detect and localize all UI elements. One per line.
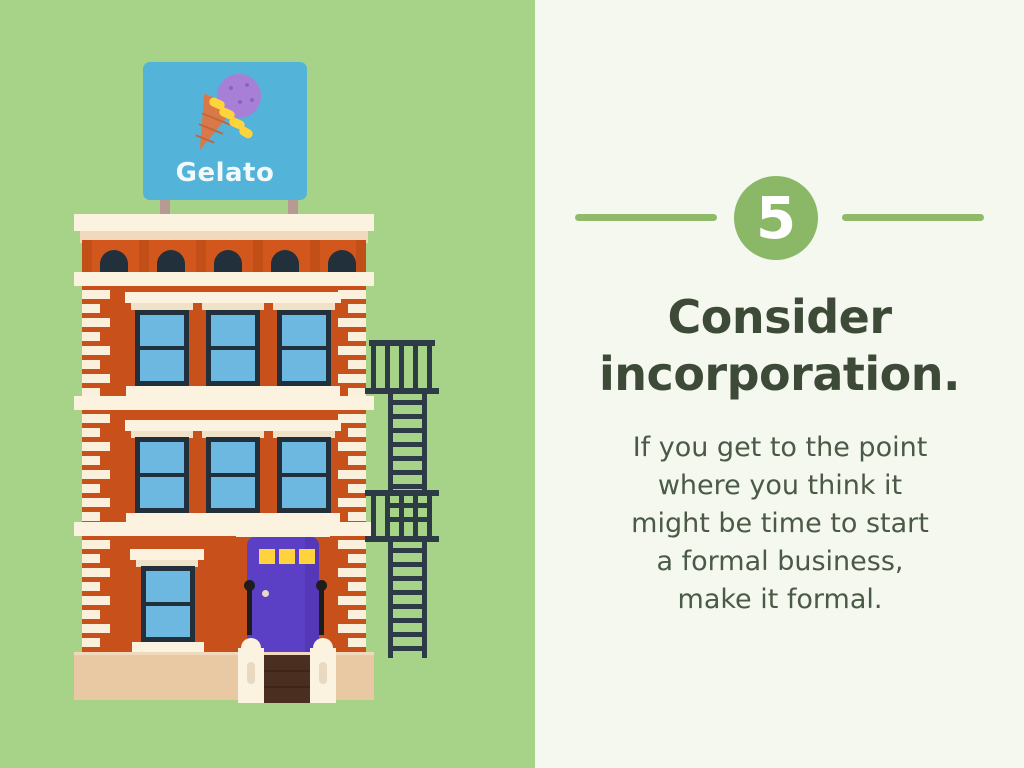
quoin [82, 484, 100, 493]
lamp-base-inset [319, 662, 327, 684]
content-panel: 5 Consider incorporation. If you get to … [535, 0, 1024, 768]
quoin [82, 318, 110, 327]
fire-escape-baluster [371, 490, 376, 536]
window-pane [140, 350, 184, 381]
fire-escape-baluster [427, 490, 432, 536]
fire-escape-rail [388, 542, 393, 658]
quoin [82, 346, 110, 355]
page-title: Consider incorporation. [555, 289, 1004, 403]
quoin [82, 456, 100, 465]
body-line: where you think it [580, 467, 980, 505]
fire-escape-rung [388, 414, 427, 419]
quoin [82, 582, 100, 591]
quoin [338, 596, 366, 605]
scoop-dot [229, 86, 233, 90]
window-pane [140, 442, 184, 473]
attic-pier [82, 240, 92, 272]
window-pane [211, 442, 255, 473]
quoin [82, 442, 110, 451]
window-upper-2 [206, 310, 260, 386]
quoin [338, 346, 366, 355]
quoin [348, 484, 366, 493]
window-lintel [125, 420, 199, 431]
quoin [82, 610, 100, 619]
fire-escape-rung [388, 562, 427, 567]
step-edge [255, 686, 317, 688]
heading-line: incorporation. [599, 347, 960, 401]
window-pane [282, 477, 326, 508]
window-middle-1 [135, 437, 189, 513]
fire-escape-rung [388, 576, 427, 581]
floor-band-middle [74, 396, 374, 410]
drizzle-blob [238, 125, 255, 140]
quoin [348, 512, 366, 521]
window-pane [211, 477, 255, 508]
fire-escape-rung [388, 618, 427, 623]
door-transom-pane [279, 549, 295, 564]
quoin [348, 554, 366, 563]
fire-escape-rung [388, 590, 427, 595]
fire-escape-rung [388, 646, 427, 651]
quoin [338, 442, 366, 451]
window-lintel [267, 420, 341, 431]
window-pane [140, 477, 184, 508]
body-paragraph: If you get to the point where you think … [580, 429, 980, 619]
divider-line-left [575, 214, 717, 221]
lamp-head-right [316, 580, 327, 591]
attic-pier [356, 240, 366, 272]
quoin [82, 428, 100, 437]
quoin [338, 470, 366, 479]
door-header-upper [228, 515, 338, 525]
quoin [82, 596, 110, 605]
quoin [82, 540, 110, 549]
fire-escape-rung [388, 428, 427, 433]
door-header-lower [236, 527, 330, 537]
window-lintel-under [131, 303, 193, 310]
fire-escape-baluster [413, 490, 418, 536]
door-transom-pane [299, 549, 315, 564]
door-knob[interactable] [262, 590, 269, 597]
window-lintel [267, 292, 341, 303]
quoin [82, 624, 110, 633]
quoin [82, 332, 100, 341]
lamp-head-left [244, 580, 255, 591]
gelato-building-illustration: Gelato [0, 0, 535, 768]
quoin [82, 374, 110, 383]
quoin [348, 332, 366, 341]
fire-escape-baluster [399, 490, 404, 536]
attic-pier [310, 240, 320, 272]
fire-escape [365, 340, 445, 660]
window-upper-1 [135, 310, 189, 386]
quoin [82, 304, 100, 313]
fire-escape-rung [388, 632, 427, 637]
window-pane [140, 315, 184, 346]
quoin [82, 568, 110, 577]
quoin [82, 554, 100, 563]
quoin [82, 360, 100, 369]
heading-line: Consider [667, 290, 891, 344]
quoin [82, 290, 110, 299]
window-ground-1 [141, 566, 195, 642]
attic-pier [139, 240, 149, 272]
floor-band-top [74, 272, 374, 286]
fire-escape-baluster [385, 340, 390, 388]
roof-cap [74, 214, 374, 231]
quoin [348, 456, 366, 465]
lamp-pole-right [319, 587, 324, 635]
fire-escape-rung [388, 548, 427, 553]
body-line: might be time to start [580, 505, 980, 543]
lamp-base-right [310, 648, 336, 703]
quoin [338, 498, 366, 507]
quoin [348, 304, 366, 313]
quoin [82, 512, 100, 521]
fire-escape-baluster [399, 340, 404, 388]
fire-escape-rung [388, 456, 427, 461]
scoop-dot [238, 100, 242, 104]
fire-escape-rung [388, 400, 427, 405]
slide-canvas: Gelato [0, 0, 1024, 768]
quoin [348, 638, 366, 647]
body-line: make it formal. [580, 581, 980, 619]
window-lintel [196, 420, 270, 431]
lamp-pole-left [247, 587, 252, 635]
quoin [338, 318, 366, 327]
quoin [338, 414, 366, 423]
window-middle-2 [206, 437, 260, 513]
quoin [348, 582, 366, 591]
quoin [82, 638, 100, 647]
window-pane [146, 571, 190, 602]
window-lintel [196, 292, 270, 303]
scoop-dot [245, 83, 249, 87]
quoin [348, 428, 366, 437]
fire-escape-rung [388, 470, 427, 475]
scoop-dot [250, 98, 254, 102]
quoin [82, 470, 110, 479]
fire-escape-rung [388, 484, 427, 489]
fire-escape-grate [387, 517, 429, 522]
quoin [338, 290, 366, 299]
divider-line-right [842, 214, 984, 221]
gelato-sign-label: Gelato [143, 158, 307, 188]
window-pane [282, 442, 326, 473]
quoin [338, 374, 366, 383]
fire-escape-rail [422, 542, 427, 658]
window-pane [211, 315, 255, 346]
illustration-panel: Gelato [0, 0, 535, 768]
fire-escape-baluster [427, 340, 432, 388]
window-pane [146, 606, 190, 637]
window-lintel [125, 292, 199, 303]
ice-cream-cone-icon [191, 74, 263, 154]
lamp-base-left [238, 648, 264, 703]
fire-escape-baluster [371, 340, 376, 388]
fire-escape-rung [388, 442, 427, 447]
lamp-base-inset [247, 662, 255, 684]
window-lintel-under [202, 303, 264, 310]
window-lintel-under [273, 303, 335, 310]
window-pane [211, 350, 255, 381]
attic-pier [196, 240, 206, 272]
quoin [338, 540, 366, 549]
quoin [338, 568, 366, 577]
entry-steps [255, 655, 317, 703]
fire-escape-baluster [385, 490, 390, 536]
body-line: If you get to the point [580, 429, 980, 467]
gelato-sign: Gelato [143, 62, 307, 200]
fire-escape-grate [387, 503, 429, 508]
fire-escape-baluster [413, 340, 418, 388]
window-pane [282, 315, 326, 346]
window-pane [282, 350, 326, 381]
quoin [82, 414, 110, 423]
quoin [82, 498, 110, 507]
window-upper-3 [277, 310, 331, 386]
body-line: a formal business, [580, 543, 980, 581]
window-lintel [130, 549, 204, 560]
step-number-badge: 5 [734, 176, 818, 260]
window-middle-3 [277, 437, 331, 513]
fire-escape-rung [388, 604, 427, 609]
step-divider-row: 5 [535, 176, 1024, 260]
quoin [338, 624, 366, 633]
fire-escape-platform-lower [365, 536, 439, 542]
step-edge [255, 670, 317, 672]
door-transom-pane [259, 549, 275, 564]
fire-escape-platform-upper [365, 388, 439, 394]
quoin [348, 610, 366, 619]
quoin [348, 360, 366, 369]
attic-pier [253, 240, 263, 272]
